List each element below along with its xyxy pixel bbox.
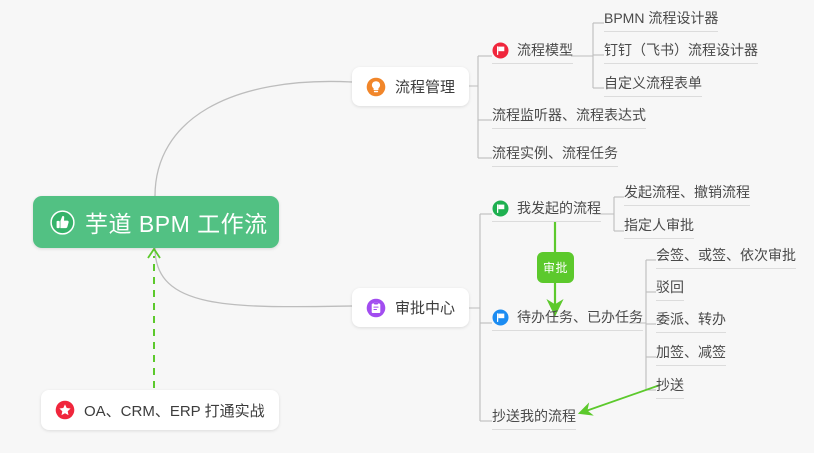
node-dingtalk-feishu-designer-label: 钉钉（飞书）流程设计器 (604, 40, 758, 60)
node-start-cancel-flow[interactable]: 发起流程、撤销流程 (624, 182, 750, 206)
node-flow-model-label: 流程模型 (517, 40, 573, 60)
node-cc-to-me-flows-label: 抄送我的流程 (492, 406, 576, 426)
node-countersign-or-sign-sequential-label: 会签、或签、依次审批 (656, 245, 796, 265)
node-delegate-transfer[interactable]: 委派、转办 (656, 309, 726, 333)
node-cc-to-me-flows[interactable]: 抄送我的流程 (492, 406, 576, 430)
node-flow-management[interactable]: 流程管理 (352, 67, 469, 106)
node-delegate-transfer-label: 委派、转办 (656, 309, 726, 329)
star-icon (55, 400, 75, 420)
node-todo-done-tasks[interactable]: 待办任务、已办任务 (492, 307, 643, 331)
node-custom-flow-form[interactable]: 自定义流程表单 (604, 73, 702, 97)
node-assignee-approval-label: 指定人审批 (624, 215, 694, 235)
node-bpmn-designer[interactable]: BPMN 流程设计器 (604, 8, 718, 32)
lightbulb-icon (366, 77, 386, 97)
flag-icon-green (492, 200, 509, 217)
node-cc-label: 抄送 (656, 375, 684, 395)
node-custom-flow-form-label: 自定义流程表单 (604, 73, 702, 93)
flag-icon-red (492, 42, 509, 59)
root-node[interactable]: 芋道 BPM 工作流 (33, 196, 279, 248)
approve-badge-label: 审批 (543, 259, 568, 276)
mindmap-canvas: 芋道 BPM 工作流 流程管理 审批中心 (0, 0, 814, 453)
clipboard-icon (366, 298, 386, 318)
node-flow-instance-task-label: 流程实例、流程任务 (492, 143, 618, 163)
node-oa-crm-erp-label: OA、CRM、ERP 打通实战 (84, 400, 265, 421)
node-start-cancel-flow-label: 发起流程、撤销流程 (624, 182, 750, 202)
node-approval-center[interactable]: 审批中心 (352, 288, 469, 327)
node-reject-label: 驳回 (656, 277, 684, 297)
node-reject[interactable]: 驳回 (656, 277, 684, 301)
node-flow-model[interactable]: 流程模型 (492, 40, 573, 64)
node-flow-management-label: 流程管理 (395, 76, 455, 97)
root-label: 芋道 BPM 工作流 (85, 205, 268, 239)
node-flow-listener-expression-label: 流程监听器、流程表达式 (492, 105, 646, 125)
node-oa-crm-erp[interactable]: OA、CRM、ERP 打通实战 (41, 390, 279, 430)
node-flow-listener-expression[interactable]: 流程监听器、流程表达式 (492, 105, 646, 129)
node-add-remove-sign[interactable]: 加签、减签 (656, 342, 726, 366)
flag-icon-blue (492, 309, 509, 326)
node-cc[interactable]: 抄送 (656, 375, 684, 399)
approve-badge[interactable]: 审批 (537, 252, 574, 283)
node-flow-instance-task[interactable]: 流程实例、流程任务 (492, 143, 618, 167)
node-add-remove-sign-label: 加签、减签 (656, 342, 726, 362)
thumbs-up-icon (50, 210, 75, 235)
node-todo-done-tasks-label: 待办任务、已办任务 (517, 307, 643, 327)
node-approval-center-label: 审批中心 (395, 297, 455, 318)
node-dingtalk-feishu-designer[interactable]: 钉钉（飞书）流程设计器 (604, 40, 758, 64)
node-bpmn-designer-label: BPMN 流程设计器 (604, 8, 718, 28)
node-my-initiated-flows[interactable]: 我发起的流程 (492, 198, 601, 222)
node-my-initiated-flows-label: 我发起的流程 (517, 198, 601, 218)
node-countersign-or-sign-sequential[interactable]: 会签、或签、依次审批 (656, 245, 796, 269)
node-assignee-approval[interactable]: 指定人审批 (624, 215, 694, 239)
